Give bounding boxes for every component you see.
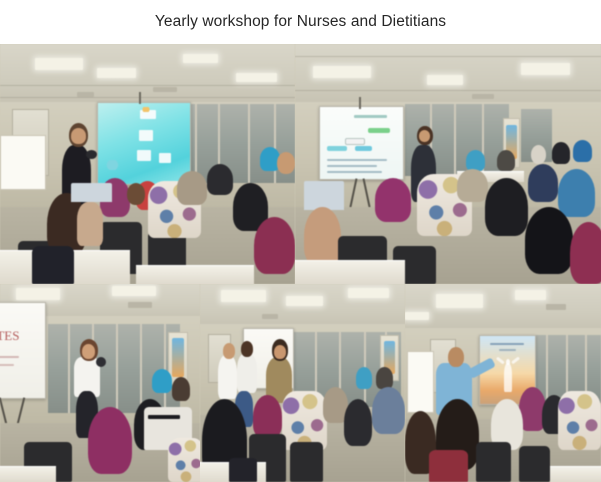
page-title-bar: Yearly workshop for Nurses and Dietitian… (0, 0, 601, 44)
collage-photo-3: BETES (0, 284, 200, 482)
collage-row-top (0, 44, 601, 284)
collage-row-bottom: BETES (0, 284, 601, 482)
collage-photo-5 (405, 284, 601, 482)
page-title: Yearly workshop for Nurses and Dietitian… (155, 14, 446, 30)
photo-collage: BETES (0, 44, 601, 482)
collage-photo-4 (200, 284, 405, 482)
page-root: Yearly workshop for Nurses and Dietitian… (0, 0, 601, 482)
collage-photo-1 (0, 44, 295, 284)
collage-photo-2 (295, 44, 601, 284)
